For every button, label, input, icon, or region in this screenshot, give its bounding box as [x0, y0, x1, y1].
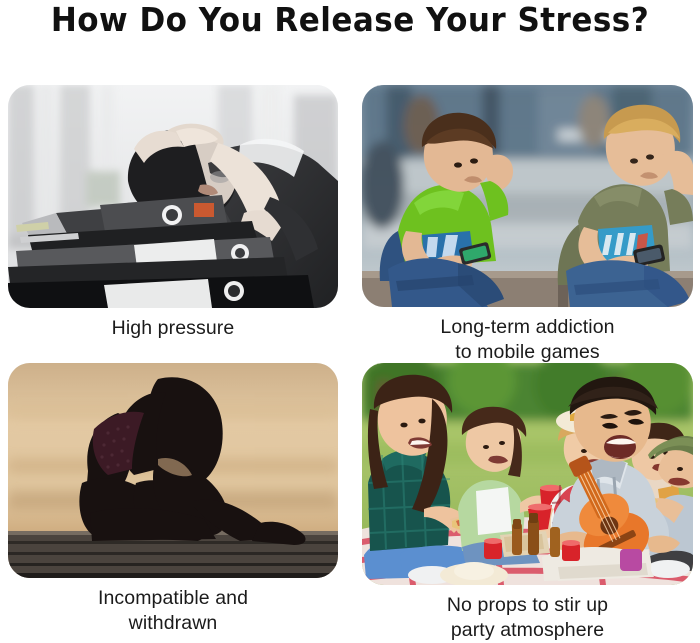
- lonely-woman-silhouette-photo: [8, 363, 338, 578]
- cell-party-atmosphere: No props to stir up party atmosphere: [362, 363, 693, 643]
- stressed-man-with-binders-photo: [8, 85, 338, 308]
- caption-line: High pressure: [8, 316, 338, 341]
- caption-line: withdrawn: [8, 611, 338, 636]
- cell-mobile-game-addiction: Long-term addiction to mobile games: [362, 85, 693, 365]
- caption-line: No props to stir up: [362, 593, 693, 618]
- cell-high-pressure: High pressure: [8, 85, 338, 341]
- caption-high-pressure: High pressure: [8, 316, 338, 341]
- cell-incompatible-withdrawn: Incompatible and withdrawn: [8, 363, 338, 636]
- caption-party-atmosphere: No props to stir up party atmosphere: [362, 593, 693, 643]
- two-teens-on-phones-photo: [362, 85, 693, 307]
- page-title: How Do You Release Your Stress?: [21, 1, 679, 39]
- caption-incompatible-withdrawn: Incompatible and withdrawn: [8, 586, 338, 636]
- caption-line: party atmosphere: [362, 618, 693, 643]
- caption-line: to mobile games: [362, 340, 693, 365]
- caption-mobile-game-addiction: Long-term addiction to mobile games: [362, 315, 693, 365]
- friends-picnic-with-ukulele-photo: [362, 363, 693, 585]
- caption-line: Incompatible and: [8, 586, 338, 611]
- poster-root: How Do You Release Your Stress?: [0, 0, 700, 640]
- caption-line: Long-term addiction: [362, 315, 693, 340]
